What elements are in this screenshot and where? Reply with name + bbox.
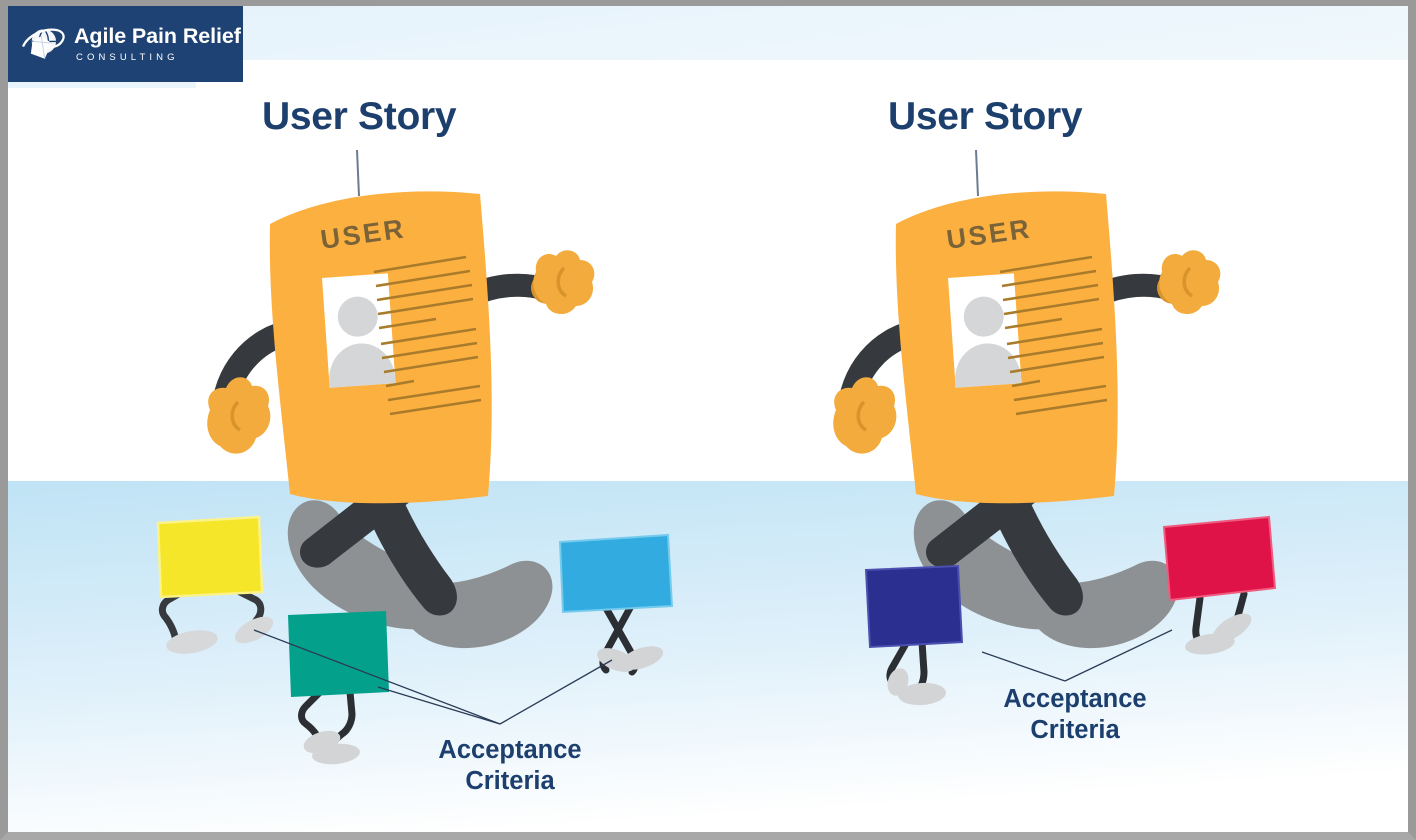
acceptance-criteria-line1-right: Acceptance xyxy=(970,684,1180,715)
square-crimson-shape xyxy=(1164,517,1275,600)
acceptance-criteria-line1-left: Acceptance xyxy=(405,735,615,766)
scene-artwork: USER xyxy=(0,0,1416,840)
square-teal-shape xyxy=(288,611,389,697)
acceptance-criteria-label-left: Acceptance Criteria xyxy=(405,735,615,797)
logo-text-group: Agile Pain Relief CONSULTING xyxy=(74,26,241,62)
background-white-left xyxy=(8,88,208,481)
scene-svg: USER xyxy=(0,0,1416,840)
square-yellow-shape xyxy=(158,517,262,597)
infographic-canvas: USER xyxy=(0,0,1416,840)
page-title-user-story-right: User Story xyxy=(888,95,1082,139)
acceptance-criteria-line2-right: Criteria xyxy=(970,715,1180,746)
globe-swoosh-icon xyxy=(20,24,66,64)
acceptance-criteria-line2-left: Criteria xyxy=(405,766,615,797)
page-title-user-story-left: User Story xyxy=(262,95,456,139)
square-navy-shape xyxy=(866,566,962,647)
logo-tagline: CONSULTING xyxy=(76,53,241,63)
square-cyan-shape xyxy=(560,535,672,612)
logo-company-name: Agile Pain Relief xyxy=(74,26,241,48)
acceptance-criteria-label-right: Acceptance Criteria xyxy=(970,684,1180,746)
brand-logo[interactable]: Agile Pain Relief CONSULTING xyxy=(6,6,243,82)
